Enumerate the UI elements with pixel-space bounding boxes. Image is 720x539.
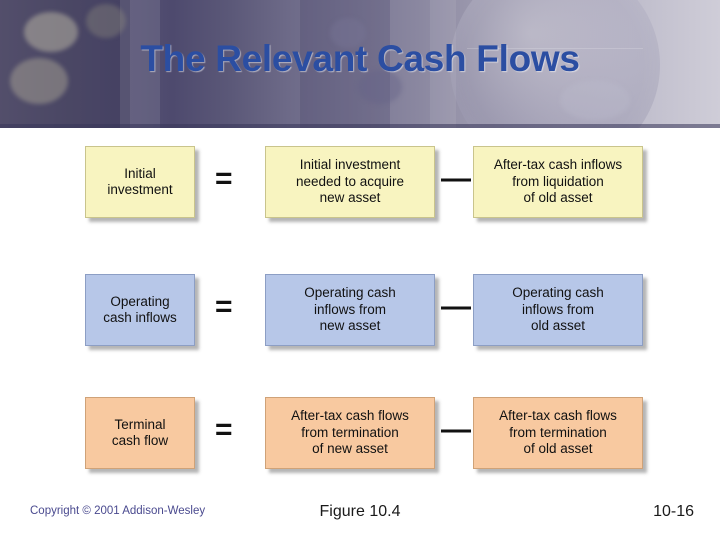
row3-right-line2: from termination bbox=[499, 425, 617, 441]
banner-bokeh bbox=[560, 80, 630, 120]
row1-right-line1: After-tax cash inflows bbox=[494, 157, 622, 173]
row2-right-line3: old asset bbox=[512, 318, 604, 334]
banner-bokeh bbox=[86, 4, 126, 38]
row1-middle-line1: Initial investment bbox=[296, 157, 404, 173]
row3-middle-line1: After-tax cash flows bbox=[291, 408, 409, 424]
row3-middle-line2: from termination bbox=[291, 425, 409, 441]
row1-left-line2: investment bbox=[107, 182, 172, 198]
row3-middle-box: After-tax cash flows from termination of… bbox=[265, 397, 435, 469]
row2-left-line1: Operating bbox=[103, 294, 177, 310]
row3-minus-operator: — bbox=[441, 415, 471, 445]
row2-right-box: Operating cash inflows from old asset bbox=[473, 274, 643, 346]
row1-middle-line2: needed to acquire bbox=[296, 174, 404, 190]
row3-left-box: Terminal cash flow bbox=[85, 397, 195, 469]
row2-minus-operator: — bbox=[441, 292, 471, 322]
row2-middle-line2: inflows from bbox=[304, 302, 396, 318]
diagram-row-operating-cash-inflows: Operating cash inflows = Operating cash … bbox=[0, 270, 720, 350]
row2-right-line2: inflows from bbox=[512, 302, 604, 318]
slide: The Relevant Cash Flows Initial investme… bbox=[0, 0, 720, 539]
row2-middle-box: Operating cash inflows from new asset bbox=[265, 274, 435, 346]
diagram-row-terminal-cash-flow: Terminal cash flow = After-tax cash flow… bbox=[0, 393, 720, 473]
row1-right-box: After-tax cash inflows from liquidation … bbox=[473, 146, 643, 218]
footer-figure-label: Figure 10.4 bbox=[0, 503, 720, 521]
row2-equals-operator: = bbox=[215, 292, 233, 322]
relevant-cash-flows-diagram: Initial investment = Initial investment … bbox=[0, 128, 720, 488]
row2-right-line1: Operating cash bbox=[512, 285, 604, 301]
row1-right-line3: of old asset bbox=[494, 190, 622, 206]
page-title: The Relevant Cash Flows bbox=[0, 38, 720, 80]
row1-middle-line3: new asset bbox=[296, 190, 404, 206]
row1-left-line1: Initial bbox=[107, 166, 172, 182]
row3-right-line3: of old asset bbox=[499, 441, 617, 457]
row1-left-box: Initial investment bbox=[85, 146, 195, 218]
row1-equals-operator: = bbox=[215, 164, 233, 194]
row1-middle-box: Initial investment needed to acquire new… bbox=[265, 146, 435, 218]
row2-left-line2: cash inflows bbox=[103, 310, 177, 326]
diagram-row-initial-investment: Initial investment = Initial investment … bbox=[0, 142, 720, 222]
row2-left-box: Operating cash inflows bbox=[85, 274, 195, 346]
row1-minus-operator: — bbox=[441, 164, 471, 194]
row3-right-box: After-tax cash flows from termination of… bbox=[473, 397, 643, 469]
row2-middle-line1: Operating cash bbox=[304, 285, 396, 301]
row2-middle-line3: new asset bbox=[304, 318, 396, 334]
row3-left-line1: Terminal bbox=[112, 417, 168, 433]
row3-left-line2: cash flow bbox=[112, 433, 168, 449]
row1-right-line2: from liquidation bbox=[494, 174, 622, 190]
footer-page-number: 10-16 bbox=[653, 503, 694, 521]
row3-middle-line3: of new asset bbox=[291, 441, 409, 457]
title-banner: The Relevant Cash Flows bbox=[0, 0, 720, 128]
row3-equals-operator: = bbox=[215, 415, 233, 445]
row3-right-line1: After-tax cash flows bbox=[499, 408, 617, 424]
